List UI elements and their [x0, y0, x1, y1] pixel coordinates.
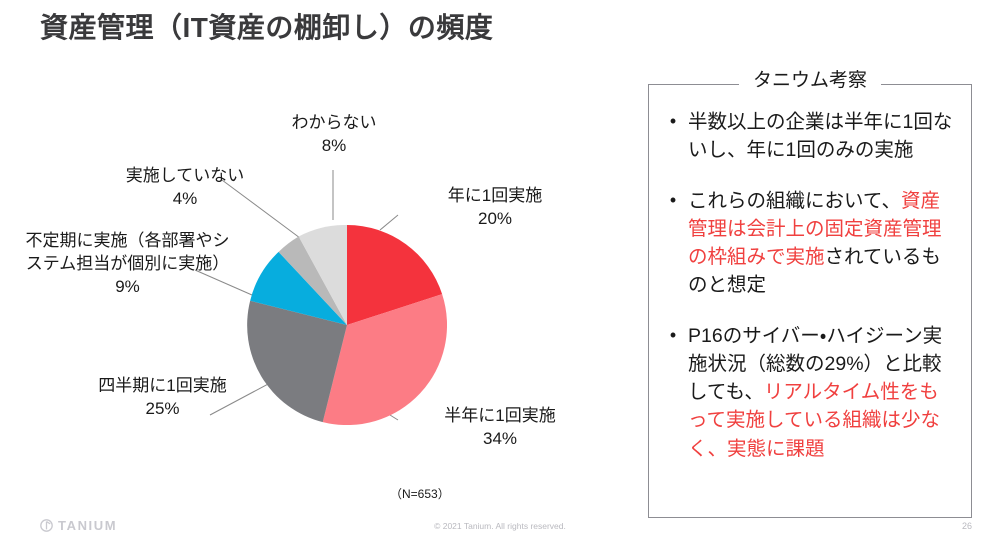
commentary-bullet: •P16のサイバー・ハイジーン実施状況（総数の29%）と比較しても、リアルタイム… [658, 322, 958, 463]
pie-label-hantoshi: 半年に1回実施 34% [400, 405, 600, 451]
pie-label-jisshi-shiteinai: 実施していない 4% [75, 165, 295, 211]
commentary-bullet: •これらの組織において、資産管理は会計上の固定資産管理の枠組みで実施されているも… [658, 187, 958, 300]
commentary-bullet-text: 半数以上の企業は半年に1回ないし、年に1回のみの実施 [688, 108, 958, 165]
commentary-bullet-text: P16のサイバー・ハイジーン実施状況（総数の29%）と比較しても、リアルタイム性… [688, 322, 958, 463]
pie-label-hantoshi-pct: 34% [400, 428, 600, 451]
plain-text: 半数以上の企業は半年に1回ないし、年に1回のみの実施 [688, 111, 952, 161]
pie-label-nen1kai-name: 年に1回実施 [448, 186, 542, 205]
pie-label-shihanki-name: 四半期に1回実施 [98, 376, 226, 395]
pie-label-futeiki-line1: 不定期に実施（各部署やシ [26, 231, 230, 250]
plain-text: これらの組織において、 [688, 190, 901, 212]
page-title: 資産管理（IT資産の棚卸し）の頻度 [40, 10, 660, 45]
footer-copyright: © 2021 Tanium. All rights reserved. [0, 521, 1000, 531]
pie-label-wakaranai-name: わからない [292, 113, 377, 132]
pie-label-nen1kai: 年に1回実施 20% [400, 185, 590, 231]
commentary-bullet: •半数以上の企業は半年に1回ないし、年に1回のみの実施 [658, 108, 958, 165]
pie-label-shihanki: 四半期に1回実施 25% [55, 375, 270, 421]
pie-label-jisshi-shiteinai-pct: 4% [75, 188, 295, 211]
commentary-panel-body: •半数以上の企業は半年に1回ないし、年に1回のみの実施•これらの組織において、資… [648, 84, 972, 518]
pie-label-wakaranai-pct: 8% [244, 135, 424, 158]
bullet-dot-icon: • [658, 187, 688, 213]
pie-label-nen1kai-pct: 20% [400, 208, 590, 231]
pie-label-wakaranai: わからない 8% [244, 112, 424, 158]
sample-size-note: （N=653） [390, 485, 450, 502]
pie-chart-area: わからない 8% 実施していない 4% 不定期に実施（各部署やシ ステム担当が個… [0, 70, 630, 510]
pie-graphic [247, 225, 447, 425]
commentary-panel: タニウム考察 •半数以上の企業は半年に1回ないし、年に1回のみの実施•これらの組… [648, 84, 972, 518]
bullet-dot-icon: • [658, 108, 688, 134]
footer-page-number: 26 [962, 521, 972, 531]
pie-label-futeiki: 不定期に実施（各部署やシ ステム担当が個別に実施） 9% [0, 230, 255, 299]
pie-label-futeiki-pct: 9% [0, 276, 255, 299]
pie-label-hantoshi-name: 半年に1回実施 [444, 406, 555, 425]
pie-label-shihanki-pct: 25% [55, 398, 270, 421]
pie-label-futeiki-line2: ステム担当が個別に実施） [26, 254, 230, 273]
commentary-bullet-text: これらの組織において、資産管理は会計上の固定資産管理の枠組みで実施されているもの… [688, 187, 958, 300]
pie-label-jisshi-shiteinai-name: 実施していない [126, 166, 245, 185]
bullet-dot-icon: • [658, 322, 688, 348]
